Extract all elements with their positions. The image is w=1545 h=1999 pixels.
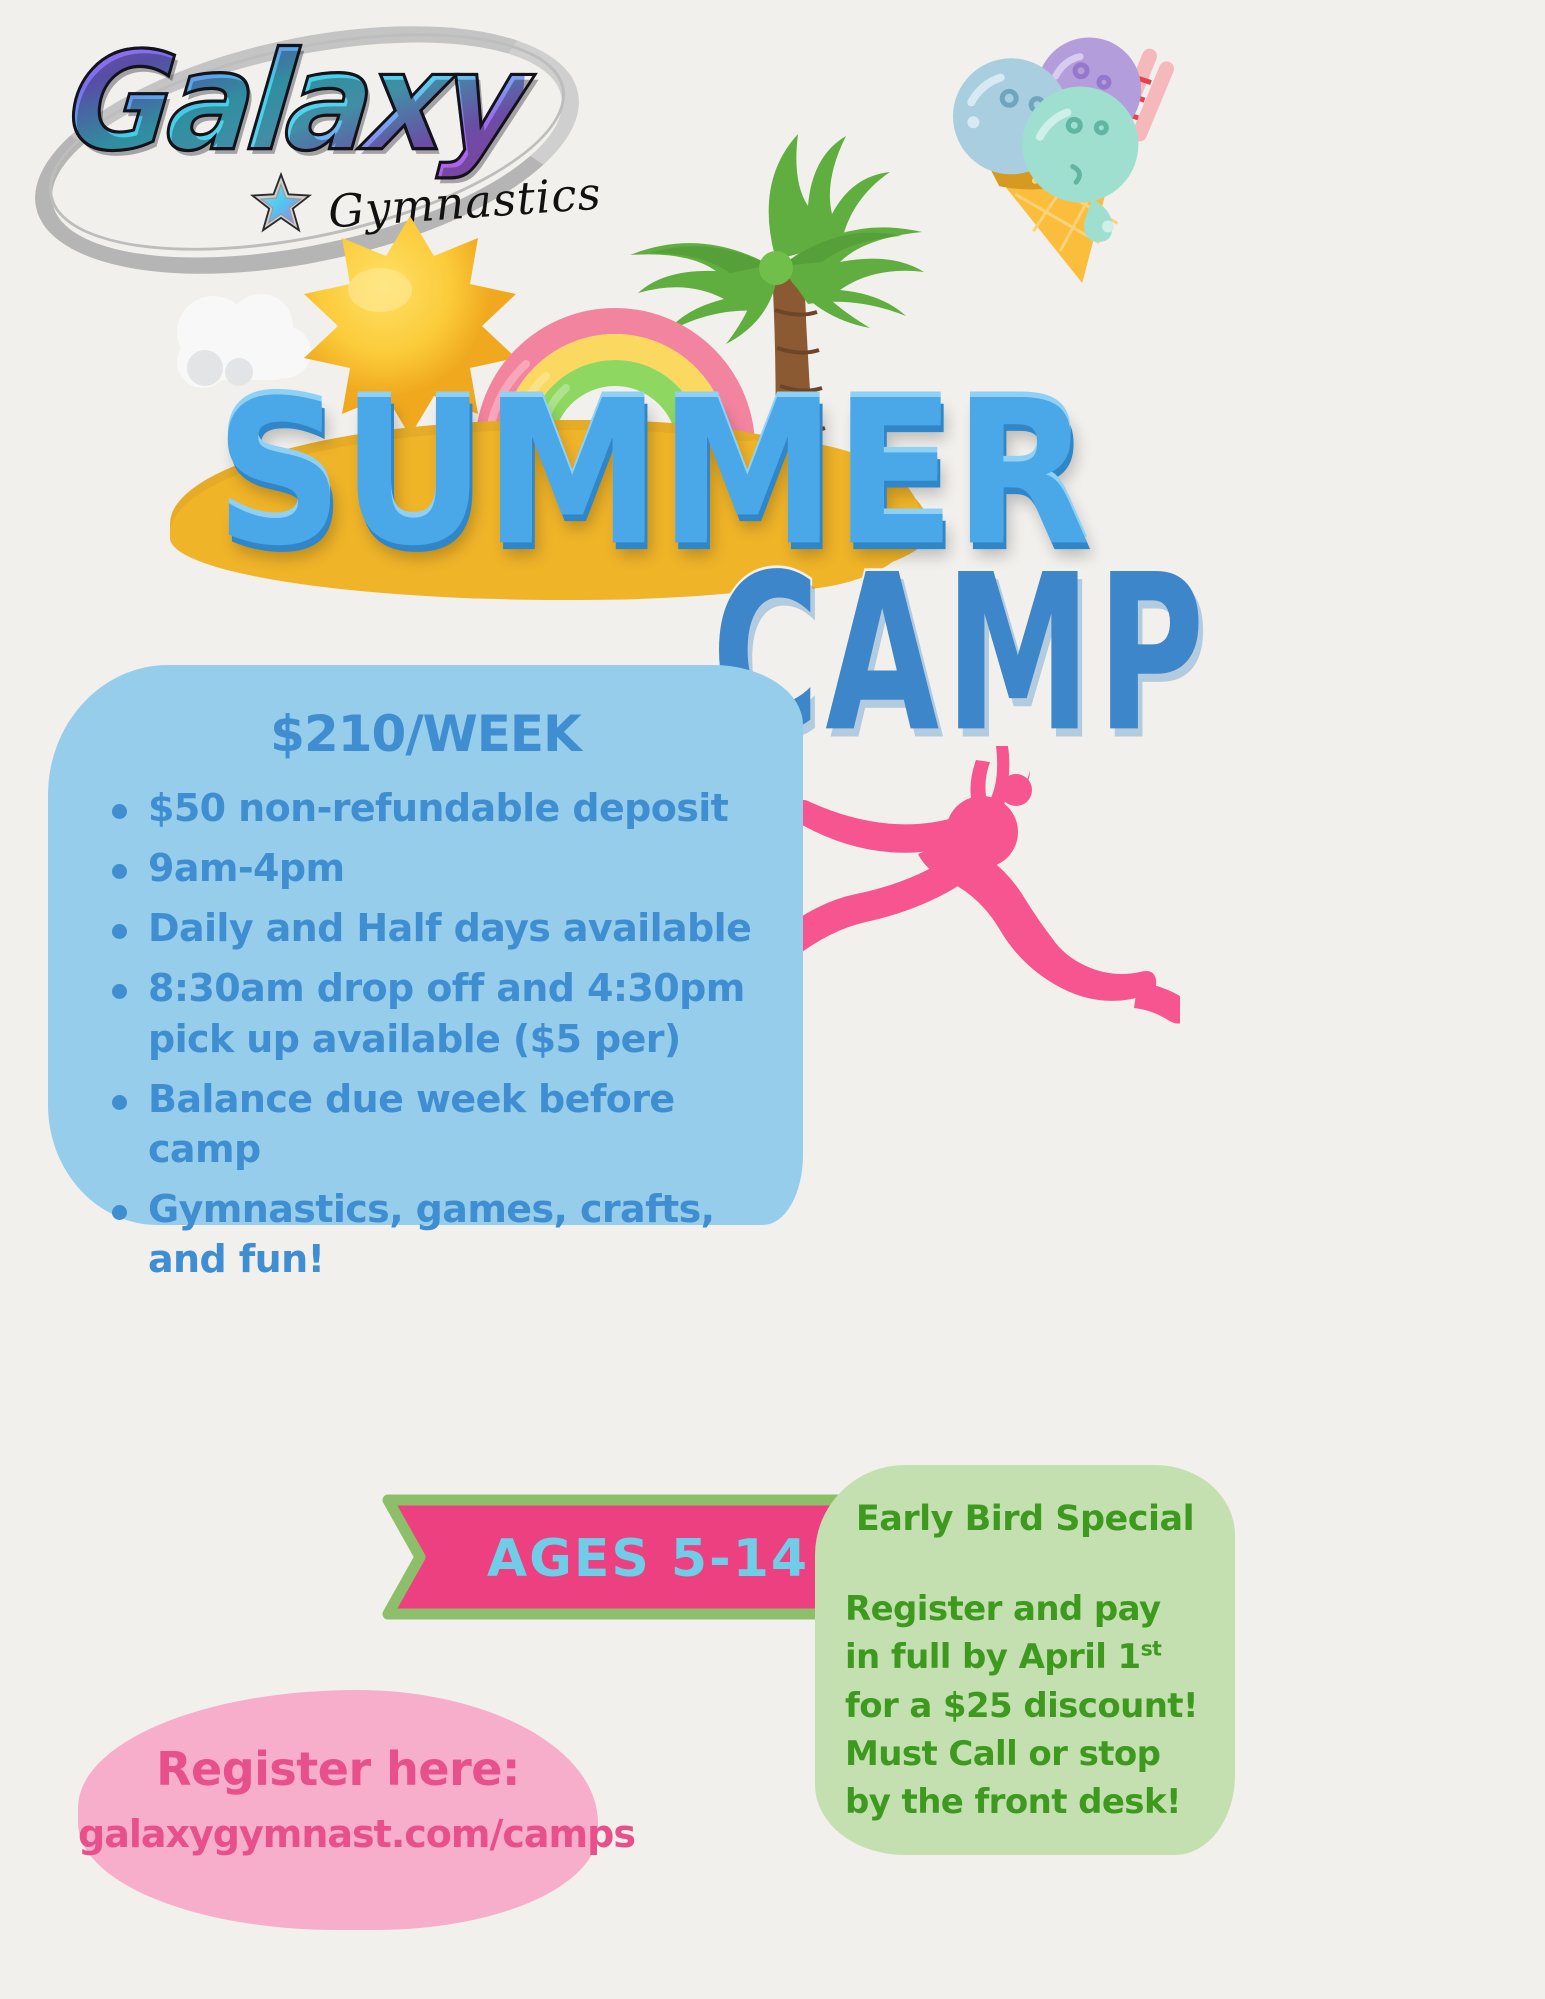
early-bird-box: Early Bird Special Register and pay in f… bbox=[815, 1465, 1235, 1855]
list-item: Balance due week before camp bbox=[100, 1074, 787, 1174]
price-label: $210/WEEK bbox=[48, 705, 803, 763]
early-bird-body: Register and pay in full by April 1st fo… bbox=[845, 1585, 1205, 1826]
ordinal-suffix: st bbox=[1141, 1637, 1162, 1661]
camp-info-card: $210/WEEK $50 non-refundable deposit 9am… bbox=[48, 665, 803, 1225]
logo-wordmark: Galaxy bbox=[62, 24, 530, 182]
list-item: Gymnastics, games, crafts, and fun! bbox=[100, 1184, 787, 1284]
summer-camp-flyer: Galaxy Gymnastics bbox=[0, 0, 1545, 1999]
camp-details-list: $50 non-refundable deposit 9am-4pm Daily… bbox=[100, 783, 787, 1294]
register-title: Register here: bbox=[78, 1742, 598, 1796]
ice-cream-cone-icon bbox=[930, 20, 1180, 290]
list-item: 8:30am drop off and 4:30pm pick up avail… bbox=[100, 963, 787, 1063]
early-bird-body-pre: Register and pay in full by April 1 bbox=[845, 1589, 1161, 1677]
galaxy-gymnastics-logo: Galaxy Gymnastics bbox=[22, 10, 582, 240]
register-blob[interactable]: Register here: galaxygymnast.com/camps bbox=[78, 1690, 598, 1930]
register-url[interactable]: galaxygymnast.com/camps bbox=[78, 1812, 598, 1856]
list-item: Daily and Half days available bbox=[100, 903, 787, 953]
early-bird-title: Early Bird Special bbox=[845, 1499, 1205, 1539]
early-bird-body-post: for a $25 discount! Must Call or stop by… bbox=[845, 1686, 1198, 1823]
list-item: 9am-4pm bbox=[100, 843, 787, 893]
list-item: $50 non-refundable deposit bbox=[100, 783, 787, 833]
